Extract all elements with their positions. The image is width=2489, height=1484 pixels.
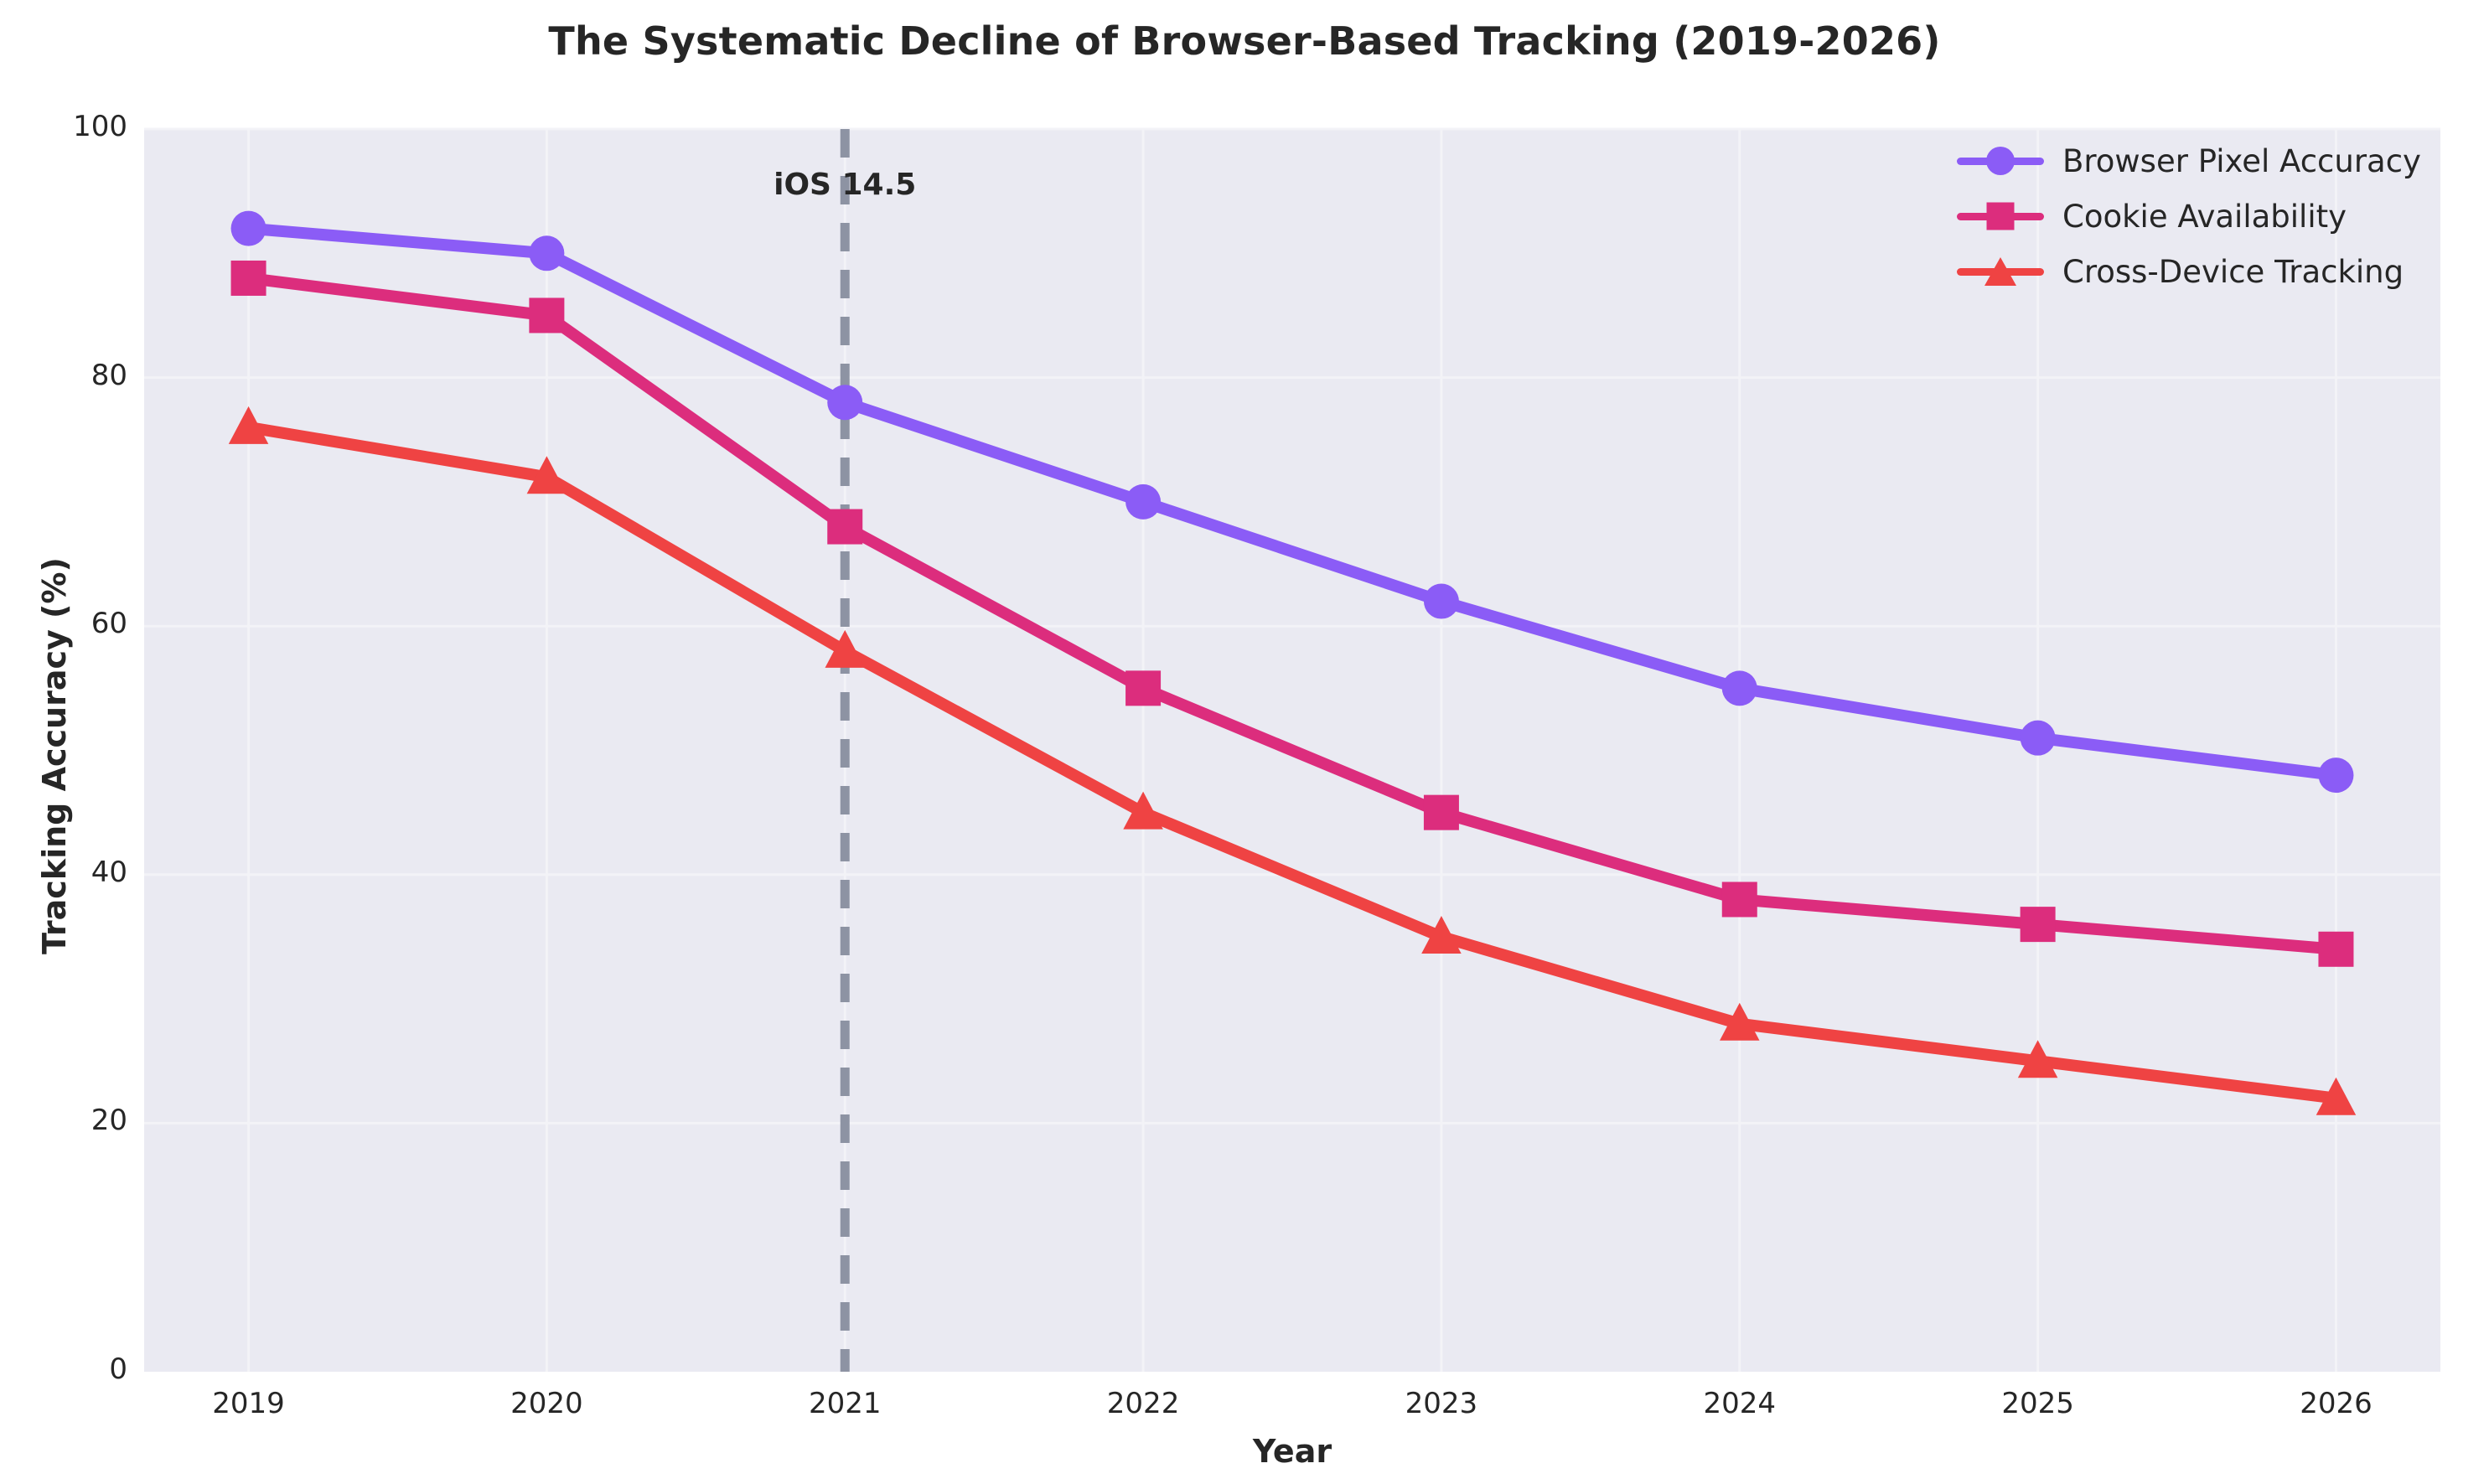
x-tick-label: 2023 [1358, 1387, 1525, 1420]
y-axis-label: Tracking Accuracy (%) [36, 412, 73, 1099]
data-point-marker [231, 211, 266, 246]
data-point-marker [2021, 907, 2056, 942]
data-point-marker [2021, 721, 2056, 756]
chart-figure: The Systematic Decline of Browser-Based … [0, 0, 2489, 1484]
data-point-marker [1424, 795, 1459, 830]
x-tick-label: 2020 [463, 1387, 630, 1420]
series-layer [144, 129, 2440, 1372]
legend-label: Cookie Availability [2062, 199, 2347, 235]
x-tick-label: 2021 [761, 1387, 929, 1420]
data-point-marker [2318, 932, 2353, 967]
legend-marker-triangle-icon [1984, 257, 2016, 286]
data-point-marker [529, 297, 564, 333]
legend-item-2[interactable]: Cookie Availability [1957, 196, 2421, 236]
series-3 [229, 406, 2356, 1115]
plot-area [144, 129, 2440, 1372]
x-tick-label: 2019 [165, 1387, 333, 1420]
legend-swatch [1957, 196, 2044, 236]
legend-swatch [1957, 141, 2044, 181]
x-axis-label: Year [144, 1433, 2440, 1470]
legend-marker-circle-icon [1986, 147, 2015, 175]
annotation-label-ios-14-5: iOS 14.5 [774, 168, 916, 202]
y-tick-label: 20 [5, 1104, 127, 1137]
data-point-marker [2318, 758, 2353, 793]
data-point-marker [529, 235, 564, 271]
data-point-marker [1722, 882, 1757, 917]
y-tick-label: 80 [5, 359, 127, 392]
x-tick-label: 2025 [1954, 1387, 2122, 1420]
chart-title: The Systematic Decline of Browser-Based … [0, 18, 2489, 64]
data-point-marker [1125, 484, 1161, 520]
legend-label: Browser Pixel Accuracy [2062, 143, 2421, 179]
legend-item-1[interactable]: Browser Pixel Accuracy [1957, 141, 2421, 181]
legend-item-3[interactable]: Cross-Device Tracking [1957, 251, 2421, 292]
x-tick-label: 2026 [2252, 1387, 2419, 1420]
x-tick-label: 2022 [1059, 1387, 1227, 1420]
legend-label: Cross-Device Tracking [2062, 254, 2404, 290]
data-point-marker [827, 509, 862, 545]
data-point-marker [1125, 670, 1161, 706]
data-point-marker [1424, 584, 1459, 619]
legend-swatch [1957, 251, 2044, 292]
x-tick-label: 2024 [1656, 1387, 1824, 1420]
data-point-marker [827, 385, 862, 420]
y-tick-label: 100 [5, 110, 127, 143]
data-point-marker [1722, 670, 1757, 706]
series-2 [231, 261, 2354, 967]
y-tick-label: 0 [5, 1352, 127, 1386]
data-point-marker [231, 261, 266, 296]
chart-legend: Browser Pixel AccuracyCookie Availabilit… [1957, 141, 2421, 292]
legend-marker-square-icon [1987, 203, 2015, 230]
